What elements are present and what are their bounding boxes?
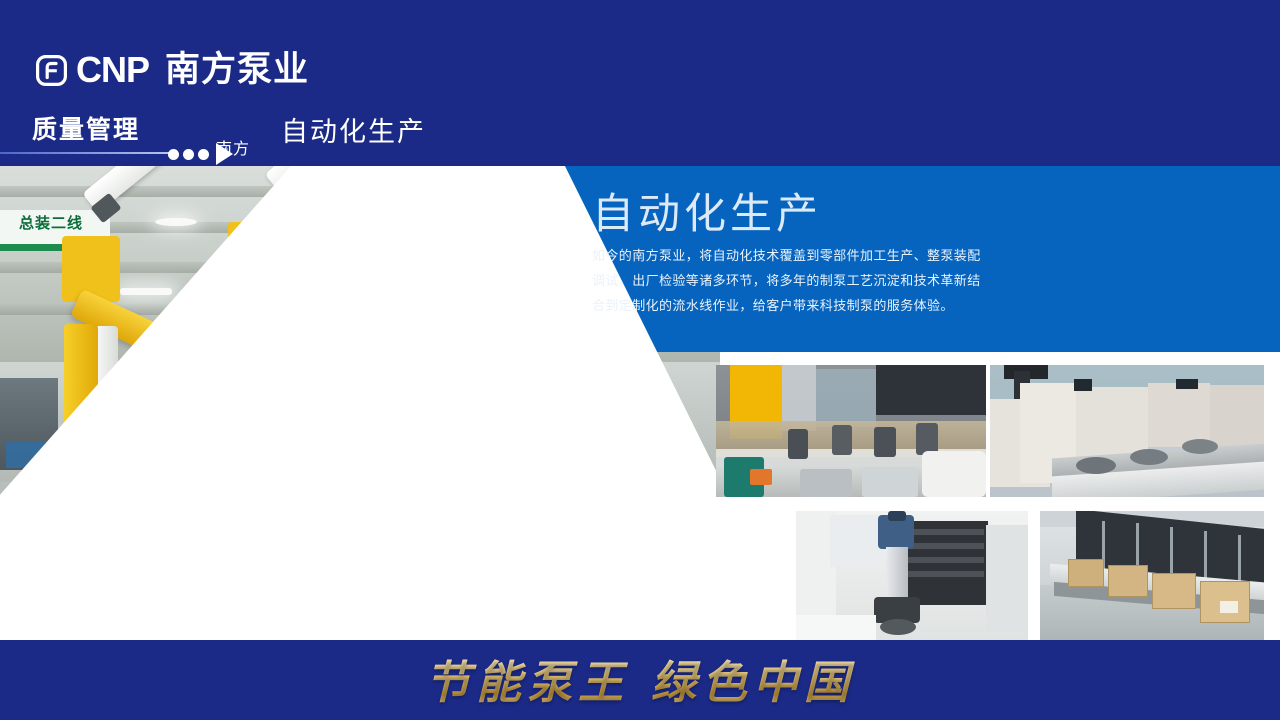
photo-arm-column xyxy=(412,306,446,506)
dot-1 xyxy=(168,149,179,160)
thumb-fixture xyxy=(874,427,896,457)
thumb-pump-flange xyxy=(880,619,916,635)
photo-arm-cylinder xyxy=(528,374,552,470)
thumb-pump-shaft xyxy=(886,547,908,599)
photo-arm-column xyxy=(222,326,266,556)
thumb-table xyxy=(796,615,876,640)
panel-title: 自动化生产 xyxy=(592,180,822,241)
breadcrumb: 自动化生产 xyxy=(281,110,426,149)
thumb-window xyxy=(830,515,884,567)
slide-body: 总装二线 xyxy=(0,166,1280,640)
brand-logo-cn-text: 南方泵业 xyxy=(165,52,309,88)
paragraph-line: 调试、出厂检验等诸多环节，将多年的制泵工艺沉淀和技术革新结 xyxy=(592,269,1012,294)
section-title: 质量管理 xyxy=(32,110,140,146)
thumb-pump-part xyxy=(862,467,918,497)
thumb-pump-disc xyxy=(1130,449,1168,465)
header-sub-label: 南方 xyxy=(216,135,250,159)
vertical-pump-machining-photo[interactable] xyxy=(796,511,1028,640)
photo-arm-head xyxy=(228,222,302,296)
packaging-conveyor-photo[interactable] xyxy=(1040,511,1264,640)
footer-slogan: 节能泵王 绿色中国 xyxy=(0,646,1280,711)
assembly-line-photo[interactable] xyxy=(716,365,986,497)
thumb-sensor xyxy=(1176,379,1198,389)
photo-ceiling-lamp xyxy=(120,288,172,295)
thumb-machine-louvre xyxy=(896,557,984,563)
photo-arm-column xyxy=(64,324,98,534)
thumb-machine-body xyxy=(1210,385,1264,447)
photo-equipment-rack xyxy=(118,414,236,472)
photo-arm-base xyxy=(378,496,528,544)
photo-arm-cylinder xyxy=(262,332,294,460)
thumb-fixture xyxy=(788,429,808,459)
dot-2 xyxy=(183,149,194,160)
thumb-carton-box xyxy=(1152,573,1196,609)
panel-paragraph: 如今的南方泵业，将自动化技术覆盖到零部件加工生产、整泵装配 调试、出厂检验等诸多… xyxy=(592,244,1012,319)
thumb-overhead-structure xyxy=(876,365,986,415)
photo-ceiling-lamp xyxy=(300,294,346,301)
robotic-arm-conveyor-photo[interactable] xyxy=(990,365,1264,497)
brand-logo: CNP 南方泵业 xyxy=(36,52,309,88)
photo-arm-base xyxy=(36,558,166,578)
brand-logo-text: CNP xyxy=(76,52,149,88)
paragraph-line: 如今的南方泵业，将自动化技术覆盖到零部件加工生产、整泵装配 xyxy=(592,244,1012,269)
thumb-pump-disc xyxy=(1182,439,1218,454)
paragraph-line: 合到定制化的流水线作业，给客户带来科技制泵的服务体验。 xyxy=(592,294,1012,319)
thumb-orange-part xyxy=(750,469,772,485)
thumb-pump-disc xyxy=(1076,457,1116,474)
photo-ceiling-lamp xyxy=(155,218,197,226)
presentation-slide: CNP 南方泵业 质量管理 南方 自动化生产 xyxy=(0,0,1280,720)
cnp-rounded-square-logo-icon xyxy=(36,55,67,86)
photo-arm-base xyxy=(188,586,374,610)
thumb-machine xyxy=(816,369,876,427)
thumb-machine-body xyxy=(1148,383,1210,447)
thumbnail-gallery xyxy=(716,365,1264,640)
thumb-box-label xyxy=(1220,601,1238,613)
slide-header: CNP 南方泵业 质量管理 南方 自动化生产 xyxy=(0,0,1280,166)
photo-arm-head xyxy=(418,218,476,278)
thumb-carton-box xyxy=(1108,565,1148,597)
thumb-motor-cap xyxy=(888,511,906,521)
thumb-machine-body xyxy=(1076,387,1148,457)
thumb-pump-body xyxy=(922,451,986,497)
thumb-machine-louvre xyxy=(896,571,984,577)
thumb-carton-box xyxy=(1068,559,1104,587)
thumb-fixture xyxy=(832,425,852,455)
dot-3 xyxy=(198,149,209,160)
header-rule xyxy=(0,152,172,154)
thumb-pump-part xyxy=(800,469,852,497)
thumb-sensor xyxy=(1074,379,1092,391)
thumb-machine-side xyxy=(986,525,1028,631)
